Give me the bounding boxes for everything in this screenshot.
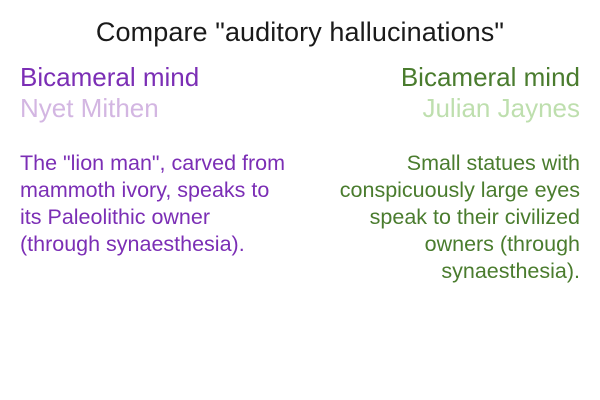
page-title: Compare "auditory hallucinations" — [0, 0, 600, 49]
comparison-column-right: Bicameral mind Julian Jaynes Small statu… — [300, 62, 580, 285]
column-left-body: The "lion man", carved from mammoth ivor… — [20, 150, 290, 258]
comparison-column-left: Bicameral mind Nyet Mithen The "lion man… — [20, 62, 300, 285]
column-right-subtitle: Julian Jaynes — [310, 93, 580, 124]
column-right-body: Small statues with conspicuously large e… — [310, 150, 580, 285]
comparison-columns: Bicameral mind Nyet Mithen The "lion man… — [0, 62, 600, 285]
column-right-title: Bicameral mind — [310, 62, 580, 93]
comparison-page: Compare "auditory hallucinations" Bicame… — [0, 0, 600, 400]
column-left-subtitle: Nyet Mithen — [20, 93, 290, 124]
column-left-title: Bicameral mind — [20, 62, 290, 93]
